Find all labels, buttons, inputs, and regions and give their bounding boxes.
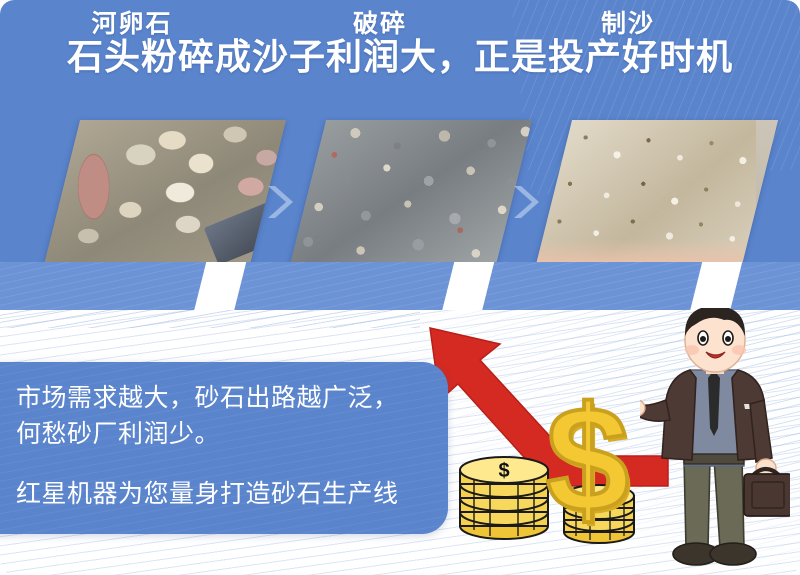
- manufactured-sand-photo: [536, 120, 778, 265]
- message-line-3: 红星机器为您量身打造砂石生产线: [16, 476, 448, 512]
- illustration-group: $ $ $: [440, 300, 800, 575]
- process-photo-crushed-gravel: [290, 120, 532, 265]
- crushed-gravel-photo: [290, 120, 532, 265]
- businessman-figure: [640, 308, 790, 573]
- chevron-right-icon: [262, 183, 296, 221]
- message-line-1: 市场需求越大，砂石出路越广泛，: [16, 380, 448, 416]
- process-step-label-3: 制沙: [560, 8, 696, 40]
- chevron-right-icon: [508, 183, 542, 221]
- dollar-sign-icon: $: [546, 384, 629, 534]
- process-photo-river-pebbles: [44, 120, 286, 265]
- message-panel: 市场需求越大，砂石出路越广泛， 何愁砂厂利润少。 红星机器为您量身打造砂石生产线: [0, 362, 448, 534]
- promo-banner: 石头粉碎成沙子利润大，正是投产好时机 河卵石 破碎 制沙 市场需求越大，砂石出路…: [0, 0, 800, 575]
- coin-stack-large: $: [458, 450, 550, 542]
- process-step-label-1: 河卵石: [64, 8, 200, 40]
- process-photo-manufactured-sand: [536, 120, 778, 265]
- process-step-label-2: 破碎: [312, 8, 448, 40]
- river-pebbles-photo: [44, 120, 286, 265]
- coin-dollar-glyph: $: [498, 460, 509, 482]
- message-line-2: 何愁砂厂利润少。: [16, 416, 448, 452]
